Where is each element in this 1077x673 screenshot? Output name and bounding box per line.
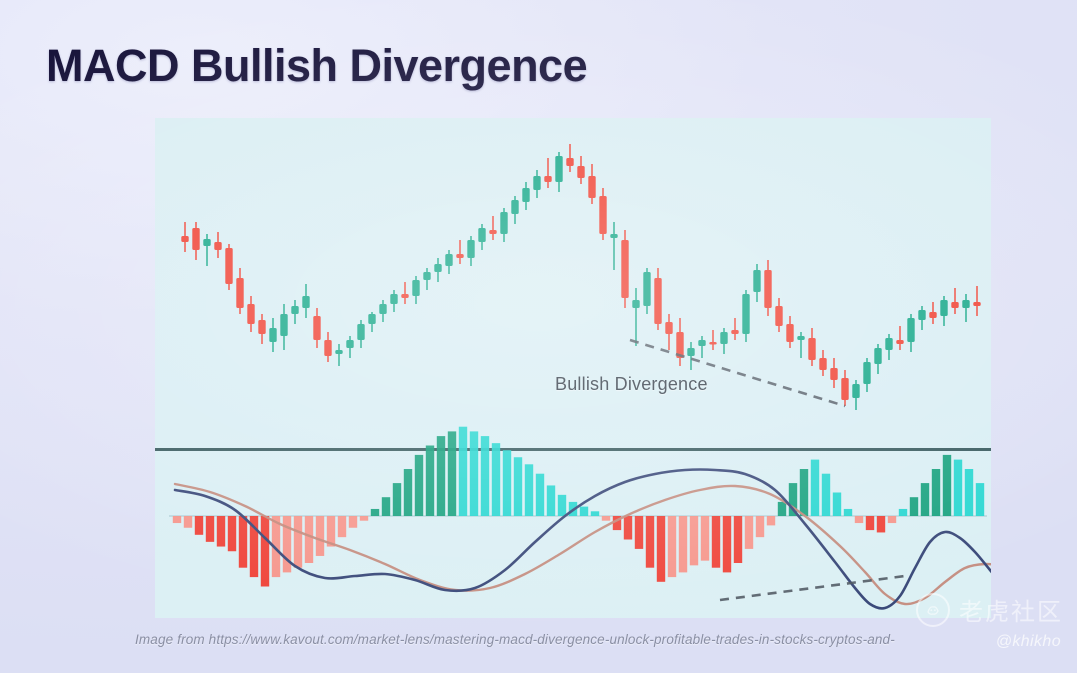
macd-histogram-bar [811,460,819,516]
macd-histogram-bar [338,516,346,537]
macd-histogram-bar [712,516,720,568]
macd-histogram-bar [382,497,390,516]
macd-histogram-bar [910,497,918,516]
macd-histogram-bar [580,507,588,516]
macd-histogram-bar [459,427,467,516]
macd-histogram-bar [514,457,522,516]
macd-histogram-bar [173,516,181,523]
macd-histogram-bar [558,495,566,516]
macd-histogram-bar [800,469,808,516]
chart-image: Bullish Divergence [155,118,991,618]
macd-histogram-bar [965,469,973,516]
macd-histogram-bar [393,483,401,516]
macd-histogram-bar [888,516,896,523]
source-caption: Image from https://www.kavout.com/market… [135,632,895,647]
macd-histogram-bar [294,516,302,568]
page-title: MACD Bullish Divergence [46,38,587,94]
macd-histogram-bar [195,516,203,535]
macd-histogram-bar [833,493,841,517]
macd-histogram-bar [206,516,214,542]
slide-root: MACD Bullish Divergence Bullish Divergen… [0,0,1077,673]
watermark-username: @khikho [996,633,1061,651]
macd-histogram-bar [426,446,434,517]
macd-histogram-bar [976,483,984,516]
macd-histogram-bar [635,516,643,549]
macd-histogram-bar [943,455,951,516]
macd-histogram-bar [261,516,269,587]
macd-histogram-bar [536,474,544,516]
macd-histogram-bar [184,516,192,528]
macd-histogram-bar [855,516,863,523]
macd-histogram-bar [492,443,500,516]
macd-histogram-bar [316,516,324,556]
macd-histogram-bar [899,509,907,516]
macd-histogram-bar [932,469,940,516]
macd-histogram-bar [734,516,742,563]
macd-histogram-bar [305,516,313,563]
macd-histogram-bar [228,516,236,551]
macd-histogram-bar [657,516,665,582]
macd-histogram-bar [437,436,445,516]
macd-histogram-bar [217,516,225,547]
macd-histogram-bar [690,516,698,565]
macd-histogram-bar [371,509,379,516]
macd-histogram-bar [283,516,291,572]
macd-histogram-bar [646,516,654,568]
macd-histogram-bar [866,516,874,530]
macd-histogram-bar [877,516,885,532]
macd-histogram-bar [525,464,533,516]
macd-histogram-bar [349,516,357,528]
macd-histogram-bar [239,516,247,568]
macd-histogram-bar [756,516,764,537]
macd-histogram-bar [481,436,489,516]
macd-histogram-bar [679,516,687,572]
divergence-annotation-label: Bullish Divergence [555,374,708,395]
macd-histogram-bar [360,516,368,521]
macd-histogram-bar [745,516,753,549]
macd-histogram-bar [921,483,929,516]
macd-histogram-bar [448,431,456,516]
macd-histogram-bar [602,516,610,521]
macd-histogram-bar [723,516,731,572]
macd-histogram-bar [470,431,478,516]
macd-histogram-bar [668,516,676,577]
macd-histogram-bar [415,455,423,516]
macd-histogram-bar [778,502,786,516]
macd-histogram-bar [954,460,962,516]
macd-histogram-bar [624,516,632,540]
macd-histogram-bar [701,516,709,561]
macd-panel [155,118,991,618]
macd-histogram-bar [547,485,555,516]
macd-histogram-bar [767,516,775,525]
macd-histogram-bar [404,469,412,516]
macd-histogram-bar [822,474,830,516]
macd-histogram-bar [591,511,599,516]
macd-histogram-bar [844,509,852,516]
macd-histogram-bar [503,450,511,516]
